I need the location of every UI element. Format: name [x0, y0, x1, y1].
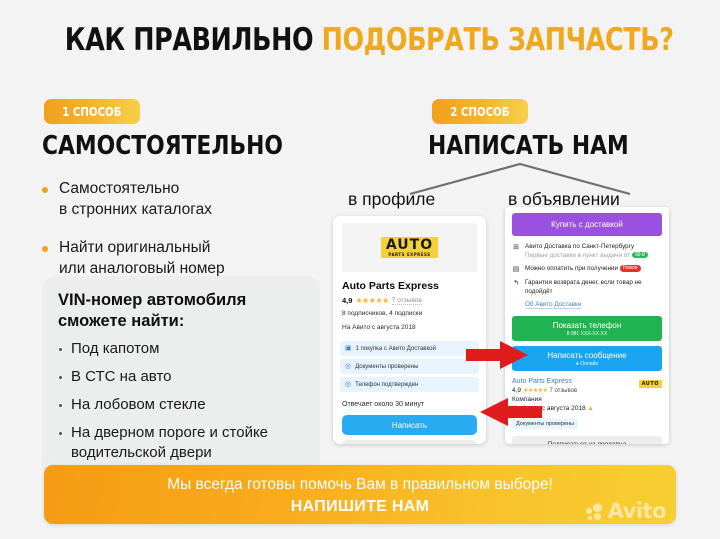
truck-icon: ⊞ [512, 243, 520, 252]
rating-value: 4,9 [342, 296, 352, 305]
badge-label: 1 покупка с Авито Доставкой [356, 346, 436, 352]
method-two-heading: НАПИСАТЬ НАМ [428, 131, 629, 161]
new-pill: Новое [620, 265, 641, 272]
poster-canvas: КАК ПРАВИЛЬНО ПОДОБРАТЬ ЗАПЧАСТЬ? 1 СПОС… [0, 0, 720, 539]
delivery-box-icon: ▣ [345, 345, 352, 352]
method-two-badge-label: 2 СПОСОБ [450, 105, 509, 119]
subscribe-button[interactable]: Подписаться [342, 440, 477, 444]
sublabel-profile: в профиле [348, 189, 435, 210]
feature-text: Гарантия возврата денег, если товар не п… [525, 279, 662, 296]
method-one-badge: 1 СПОСОБ [44, 99, 140, 124]
buy-with-delivery-button[interactable]: Купить с доставкой [512, 213, 662, 236]
method-two-badge: 2 СПОСОБ [432, 99, 528, 124]
feature-line-1: Можно оплатить при получении [525, 265, 618, 272]
star-rating-icon: ★★★★★ [355, 296, 388, 305]
method-one-heading: САМОСТОЯТЕЛЬНО [42, 131, 283, 161]
left-pointing-arrow-icon [480, 398, 542, 426]
cta-banner: Мы всегда готовы помочь Вам в правильном… [44, 465, 676, 524]
seller-logo-icon: AUTO [639, 380, 662, 388]
method-one-badge-label: 1 СПОСОБ [62, 105, 121, 119]
bullet-text: Найти оригинальный или аналоговый номер [59, 237, 225, 280]
profile-response-time: Отвечает около 30 минут [342, 401, 477, 408]
avito-watermark: Avito [586, 501, 666, 522]
bullet-text: Самостоятельно в стронних каталогах [59, 178, 212, 221]
cta-line-1: Мы всегда готовы помочь Вам в правильном… [44, 476, 676, 494]
online-status-label: Онлайн [580, 361, 598, 367]
page-title: КАК ПРАВИЛЬНО ПОДОБРАТЬ ЗАПЧАСТЬ? [65, 22, 655, 58]
listing-feature-list: ⊞ Авито Доставка по Санкт-Петербургу Пер… [512, 243, 662, 309]
feature-line-2-text: Первые доставки в пункт выдачи от [525, 252, 630, 259]
avito-wordmark: Avito [608, 501, 666, 522]
badge-label: Телефон подтвержден [355, 382, 418, 388]
vin-card-heading: VIN-номер автомобиля сможете найти: [58, 290, 304, 331]
profile-member-since: На Авито с августа 2018 [342, 323, 477, 333]
list-item: Под капотом [58, 339, 304, 359]
show-phone-label: Показать телефон [553, 321, 622, 330]
price-pill: 99 ₽ [632, 252, 648, 259]
profile-followers: 8 подписчиков, 4 подписки [342, 309, 477, 319]
profile-screenshot-card: AUTO PARTS EXPRESS Auto Parts Express 4,… [333, 216, 486, 444]
avito-dots-icon [586, 502, 606, 522]
feature-text: Можно оплатить при полученииНовое [525, 265, 641, 274]
list-item: ◎ Документы проверены [340, 359, 479, 374]
badge-label: Документы проверены [355, 364, 418, 370]
wallet-icon: ▤ [512, 265, 520, 274]
list-item: ↰ Гарантия возврата денег, если товар не… [512, 279, 662, 296]
list-item: ▣ 1 покупка с Авито Доставкой [340, 341, 479, 356]
profile-badge-list: ▣ 1 покупка с Авито Доставкой ◎ Документ… [340, 341, 479, 392]
seller-reviews-link[interactable]: 7 отзывов [549, 388, 577, 394]
list-item: ▤ Можно оплатить при полученииНовое [512, 265, 662, 274]
list-item: На дверном пороге и стойке водительской … [58, 423, 304, 463]
page-title-black: КАК ПРАВИЛЬНО [65, 22, 322, 58]
reviews-link[interactable]: 7 отзывов [392, 297, 422, 305]
masked-phone-number: 8 981 XXX-XX-XX [567, 331, 608, 337]
right-pointing-arrow-icon [466, 341, 528, 369]
write-button[interactable]: Написать [342, 415, 477, 435]
check-circle-icon: ◎ [345, 363, 351, 370]
verified-icon: ▲ [587, 405, 593, 412]
bullet-dot-icon [42, 187, 48, 193]
seller-rating-value: 4,9 [512, 387, 521, 394]
about-delivery-link[interactable]: Об Авито Доставке [525, 301, 581, 309]
vin-location-list: Под капотом В СТС на авто На лобовом сте… [58, 339, 304, 463]
send-message-button[interactable]: Написать сообщение ● Онлайн [512, 346, 662, 371]
logo-main-text: AUTO [386, 237, 433, 253]
check-circle-icon: ◎ [345, 381, 351, 388]
profile-rating: 4,9 ★★★★★ 7 отзывов [342, 296, 477, 305]
feature-line-2: Первые доставки в пункт выдачи от99 ₽ [525, 252, 648, 261]
profile-logo: AUTO PARTS EXPRESS [342, 223, 477, 272]
refund-arrow-icon: ↰ [512, 279, 520, 288]
bullet-dot-icon [42, 246, 48, 252]
seller-rating: 4,9 ★★★★★ 7 отзывов [512, 387, 662, 394]
vin-info-card: VIN-номер автомобиля сможете найти: Под … [42, 276, 320, 477]
list-item: Найти оригинальный или аналоговый номер [42, 237, 322, 280]
list-item: На лобовом стекле [58, 395, 304, 415]
page-title-amber: ПОДОБРАТЬ ЗАПЧАСТЬ? [322, 22, 674, 58]
follow-seller-button[interactable]: Подписаться на продавца [512, 436, 662, 444]
online-status-badge: ● Онлайн [576, 361, 598, 367]
list-item: ◎ Телефон подтвержден [340, 377, 479, 392]
feature-text: Авито Доставка по Санкт-Петербургу Первы… [525, 243, 648, 260]
logo-sub-text: PARTS EXPRESS [386, 253, 433, 257]
list-item: ⊞ Авито Доставка по Санкт-Петербургу Пер… [512, 243, 662, 260]
list-item: В СТС на авто [58, 367, 304, 387]
feature-line-1: Авито Доставка по Санкт-Петербургу [525, 243, 634, 250]
list-item: Об Авито Доставке [512, 301, 662, 309]
list-item: Самостоятельно в стронних каталогах [42, 178, 322, 221]
profile-name: Auto Parts Express [342, 280, 477, 292]
send-message-label: Написать сообщение [547, 351, 626, 360]
star-rating-icon: ★★★★★ [523, 387, 547, 394]
show-phone-button[interactable]: Показать телефон 8 981 XXX-XX-XX [512, 316, 662, 341]
cta-line-2: НАПИШИТЕ НАМ [44, 498, 676, 516]
auto-parts-logo-icon: AUTO PARTS EXPRESS [381, 237, 438, 258]
